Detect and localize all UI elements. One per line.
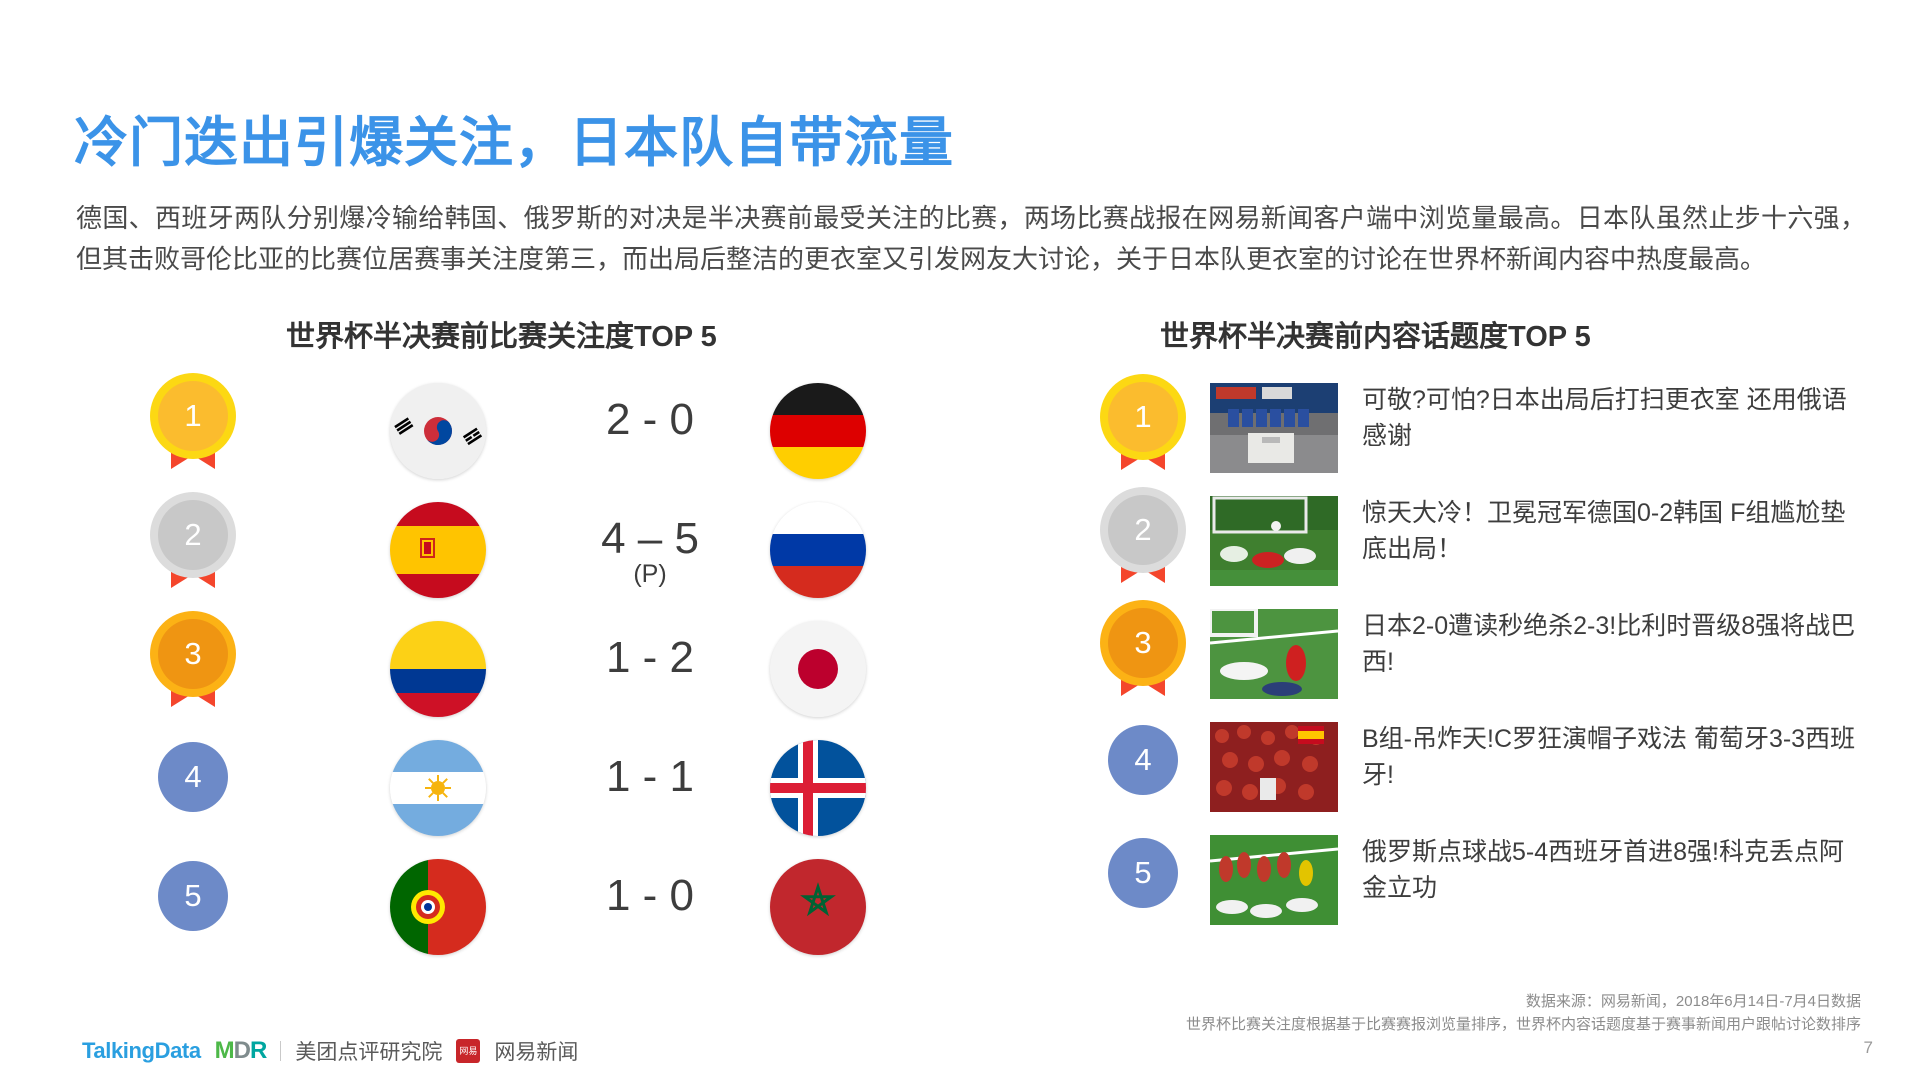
news-thumbnail: [1210, 835, 1338, 925]
medal-gold-icon: 1: [158, 381, 228, 451]
flag-argentina-icon: [390, 740, 486, 836]
flag-russia-icon: [770, 502, 866, 598]
meituan-research-logo: 美团点评研究院: [295, 1036, 442, 1066]
netease-mark-icon: 网易: [456, 1039, 480, 1063]
list-item[interactable]: 5 俄罗斯点球战5-4西班牙首进8强!科克丢点阿金立功: [1100, 830, 1900, 943]
mdr-logo: MDR: [215, 1037, 267, 1065]
netease-news-logo: 网易新闻: [494, 1036, 578, 1066]
news-title[interactable]: 可敬?可怕?日本出局后打扫更衣室 还用俄语感谢: [1362, 382, 1860, 454]
rank-circle-4: 4: [158, 742, 228, 812]
section-title-matches: 世界杯半决赛前比赛关注度TOP 5: [286, 313, 717, 355]
rank-badge-3: 3: [150, 619, 236, 719]
news-title[interactable]: B组-吊炸天!C罗狂演帽子戏法 葡萄牙3-3西班牙!: [1362, 721, 1860, 793]
slide-page: 冷门迭出引爆关注，日本队自带流量 德国、西班牙两队分别爆冷输给韩国、俄罗斯的对决…: [0, 0, 1921, 1080]
news-thumbnail: [1210, 496, 1338, 586]
flag-colombia-icon: [390, 621, 486, 717]
news-thumbnail: [1210, 722, 1338, 812]
medal-gold-icon: 1: [1108, 382, 1178, 452]
news-title[interactable]: 惊天大冷！卫冕冠军德国0-2韩国 F组尴尬垫底出局！: [1362, 495, 1860, 567]
medal-bronze-icon: 3: [1108, 608, 1178, 678]
table-row: 4 1 - 1: [120, 732, 920, 851]
news-thumbnail: [1210, 383, 1338, 473]
footer-logos: TalkingData MDR 美团点评研究院 网易 网易新闻: [82, 1036, 578, 1066]
match-score: 2 - 0: [550, 395, 750, 445]
rank-circle-4: 4: [1108, 725, 1178, 795]
source-line-2: 世界杯比赛关注度根据基于比赛赛报浏览量排序，世界杯内容话题度基于赛事新闻用户跟帖…: [1186, 1013, 1861, 1036]
news-thumbnail: [1210, 609, 1338, 699]
flag-korea-icon: [390, 383, 486, 479]
flag-morocco-icon: [770, 859, 866, 955]
rank-badge-1: 1: [150, 381, 236, 481]
match-score: 1 - 1: [550, 752, 750, 802]
list-item[interactable]: 1 可敬?可怕?日本出局后打扫更衣室 还用俄语感谢: [1100, 378, 1900, 491]
rank-badge-1: 1: [1100, 382, 1186, 482]
page-number: 7: [1864, 1038, 1873, 1058]
match-score: 4 – 5 (P): [550, 514, 750, 589]
news-ranking-list: 1 可敬?可怕?日本出局后打扫更衣室 还用俄语感谢 2: [1100, 378, 1900, 943]
medal-bronze-icon: 3: [158, 619, 228, 689]
match-score: 1 - 2: [550, 633, 750, 683]
table-row: 5 1 - 0: [120, 851, 920, 970]
medal-silver-icon: 2: [158, 500, 228, 570]
rank-badge-5: 5: [150, 857, 236, 957]
table-row: 2 4 – 5 (P): [120, 494, 920, 613]
news-title[interactable]: 俄罗斯点球战5-4西班牙首进8强!科克丢点阿金立功: [1362, 834, 1860, 906]
table-row: 3 1 - 2: [120, 613, 920, 732]
rank-badge-3: 3: [1100, 608, 1186, 708]
table-row: 1 2 - 0: [120, 375, 920, 494]
flag-portugal-icon: [390, 859, 486, 955]
section-title-news: 世界杯半决赛前内容话题度TOP 5: [1160, 313, 1591, 355]
rank-badge-4: 4: [150, 738, 236, 838]
rank-badge-2: 2: [150, 500, 236, 600]
rank-badge-5: 5: [1100, 834, 1186, 934]
logo-divider: [280, 1041, 281, 1061]
flag-iceland-icon: [770, 740, 866, 836]
rank-circle-5: 5: [158, 861, 228, 931]
lede-paragraph: 德国、西班牙两队分别爆冷输给韩国、俄罗斯的对决是半决赛前最受关注的比赛，两场比赛…: [76, 198, 1866, 280]
list-item[interactable]: 4 B组-吊炸天!C罗狂演帽子戏法 葡萄牙3-3西班牙!: [1100, 717, 1900, 830]
match-ranking-list: 1 2 - 0: [120, 375, 920, 970]
source-line-1: 数据来源：网易新闻，2018年6月14日-7月4日数据: [1186, 990, 1861, 1013]
medal-silver-icon: 2: [1108, 495, 1178, 565]
news-title[interactable]: 日本2-0遭读秒绝杀2-3!比利时晋级8强将战巴西!: [1362, 608, 1860, 680]
source-note: 数据来源：网易新闻，2018年6月14日-7月4日数据 世界杯比赛关注度根据基于…: [1186, 990, 1861, 1036]
rank-badge-2: 2: [1100, 495, 1186, 595]
flag-spain-icon: [390, 502, 486, 598]
flag-japan-icon: [770, 621, 866, 717]
list-item[interactable]: 3 日本2-0遭读秒绝杀2-3!比利时晋级8强将战巴西!: [1100, 604, 1900, 717]
penalty-note: (P): [550, 560, 750, 589]
flag-germany-icon: [770, 383, 866, 479]
rank-badge-4: 4: [1100, 721, 1186, 821]
page-title: 冷门迭出引爆关注，日本队自带流量: [74, 98, 954, 177]
list-item[interactable]: 2 惊天大冷！卫冕冠军德国0-2韩国 F组尴尬垫底出局！: [1100, 491, 1900, 604]
match-score: 1 - 0: [550, 871, 750, 921]
rank-circle-5: 5: [1108, 838, 1178, 908]
talkingdata-logo: TalkingData: [82, 1038, 201, 1064]
